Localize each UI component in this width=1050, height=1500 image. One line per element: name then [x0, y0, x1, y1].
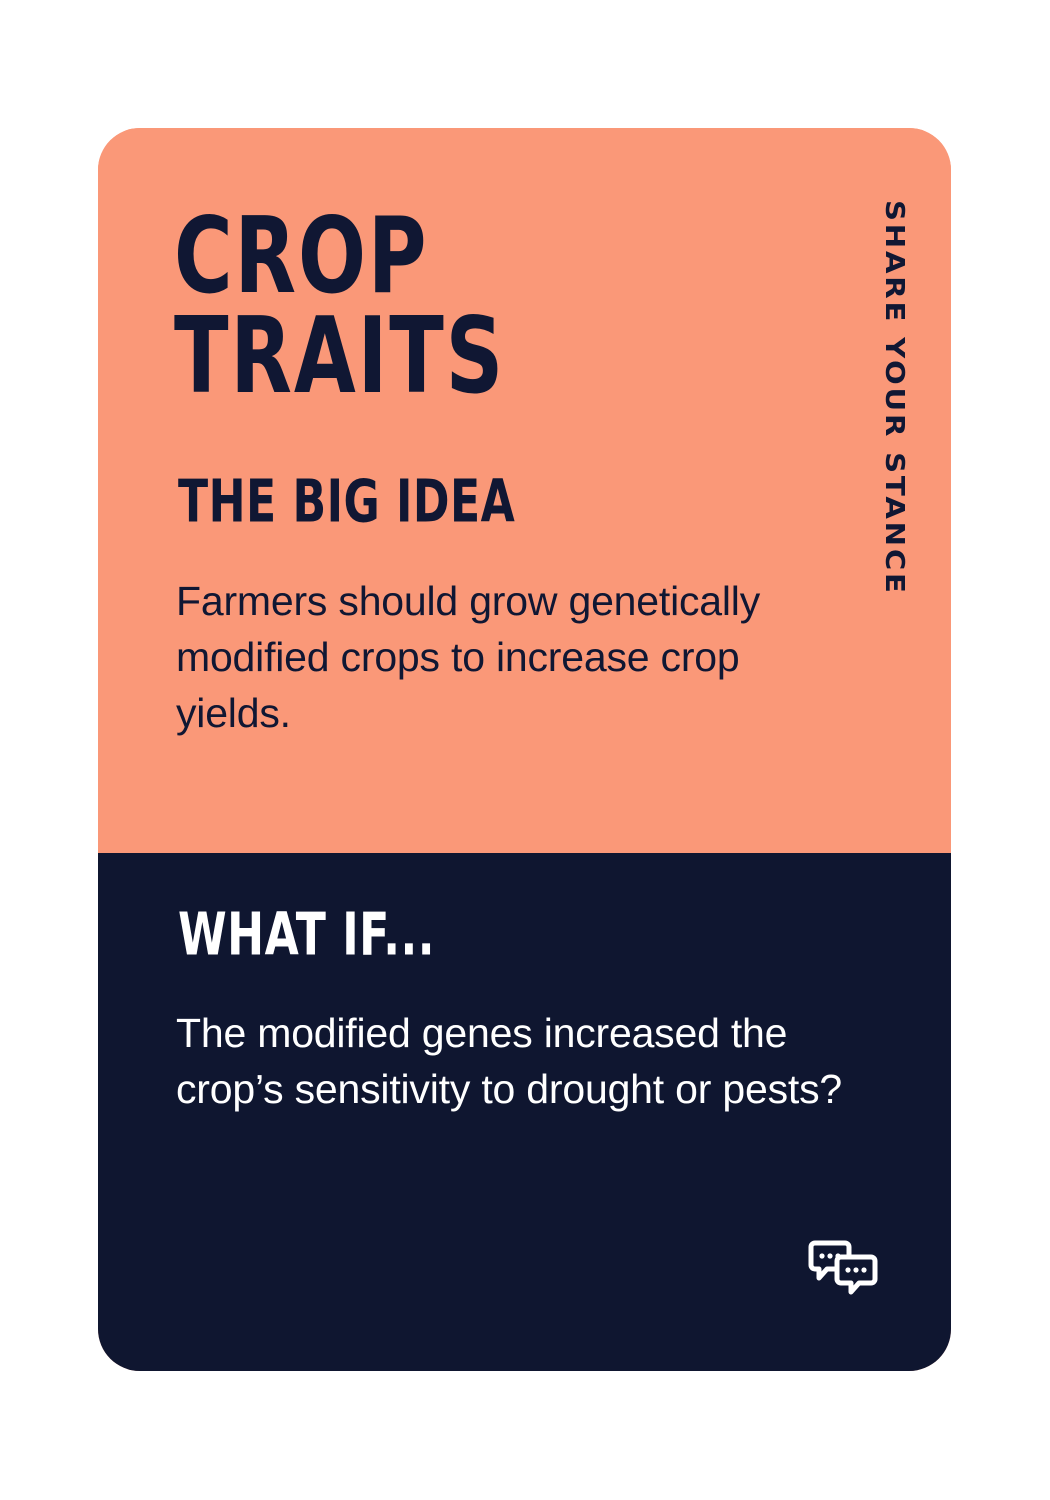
speech-bubbles-icon: [807, 1239, 879, 1299]
card-title-block: CROP TRAITS: [174, 208, 734, 371]
share-your-stance-tag: SHARE YOUR STANCE: [879, 200, 909, 500]
card-top-section: CROP TRAITS SHARE YOUR STANCE THE BIG ID…: [98, 128, 951, 853]
card-title-line-2: TRAITS: [174, 308, 695, 408]
big-idea-body-text: Farmers should grow genetically modified…: [176, 573, 826, 741]
page-title: CROP TRAITS: [174, 208, 695, 407]
big-idea-heading: THE BIG IDEA: [178, 468, 515, 536]
card-bottom-section: WHAT IF... The modified genes increased …: [98, 853, 951, 1371]
share-your-stance-label: SHARE YOUR STANCE: [879, 200, 909, 596]
page-root: CROP TRAITS SHARE YOUR STANCE THE BIG ID…: [0, 0, 1050, 1500]
prompt-card: CROP TRAITS SHARE YOUR STANCE THE BIG ID…: [98, 128, 951, 1371]
card-title-line-1: CROP: [174, 208, 695, 308]
what-if-body-text: The modified genes increased the crop’s …: [176, 1005, 866, 1117]
what-if-heading: WHAT IF...: [178, 901, 435, 969]
